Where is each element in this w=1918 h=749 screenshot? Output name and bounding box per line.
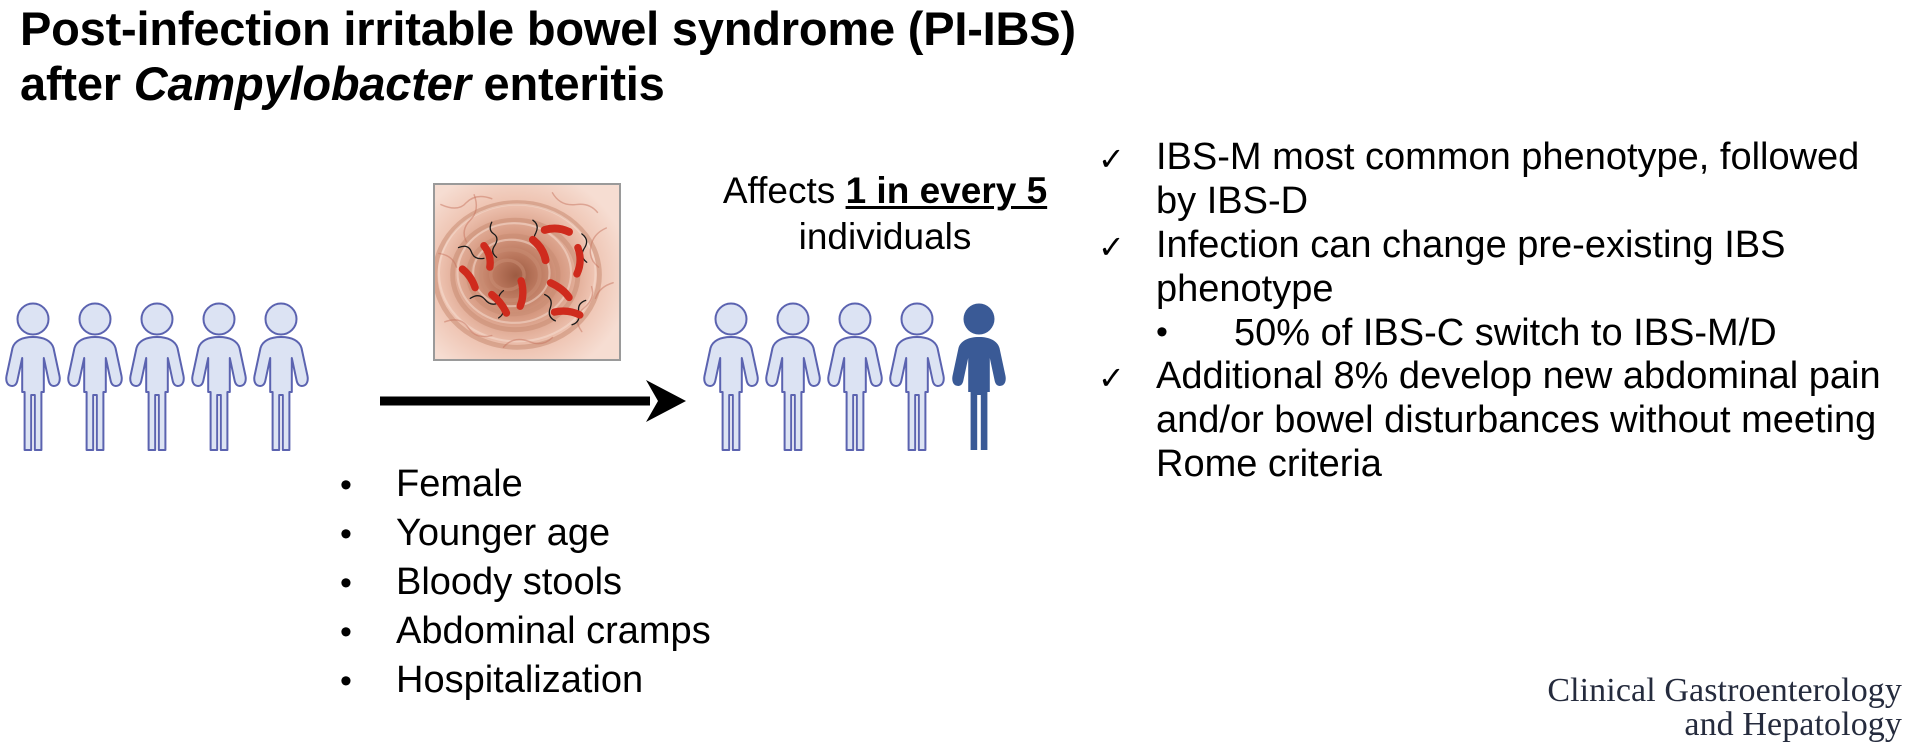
prevalence-emphasis: 1 in every 5 [846,170,1048,211]
bullet-icon: • [340,615,396,649]
five-people-group-after [700,300,1010,452]
prevalence-suffix: individuals [799,216,972,257]
list-item: ✓ IBS-M most common phenotype, followed … [1098,136,1898,224]
sub-finding-label: 50% of IBS-C switch to IBS-M/D [1234,312,1777,356]
person-icon-affected [948,300,1010,452]
title-line-2-prefix: after [20,57,134,110]
risk-factor-label: Abdominal cramps [396,609,711,653]
journal-logo: Clinical Gastroenterology and Hepatology [1547,674,1902,743]
journal-name-line-2: and Hepatology [1547,708,1902,743]
list-item: • Abdominal cramps [340,609,711,653]
person-icon [188,300,250,452]
bullet-icon: • [1156,312,1234,352]
check-icon: ✓ [1098,355,1156,400]
bullet-icon: • [340,664,396,698]
risk-factor-label: Hospitalization [396,658,643,702]
five-people-group-before [2,300,312,452]
risk-factor-label: Female [396,462,523,506]
person-icon [700,300,762,452]
check-icon: ✓ [1098,136,1156,181]
sub-list-item: • 50% of IBS-C switch to IBS-M/D [1156,312,1898,356]
title-line-2-suffix: enteritis [471,57,665,110]
person-icon [2,300,64,452]
person-icon [64,300,126,452]
prevalence-callout: Affects 1 in every 5 individuals [700,168,1070,261]
risk-factor-label: Bloody stools [396,560,622,604]
page-title: Post-infection irritable bowel syndrome … [20,2,1420,112]
title-organism-name: Campylobacter [134,57,471,110]
list-item: • Female [340,462,711,506]
finding-label: IBS-M most common phenotype, followed by… [1156,136,1898,224]
title-line-1: Post-infection irritable bowel syndrome … [20,2,1076,55]
person-icon [250,300,312,452]
graphical-abstract-slide: Post-infection irritable bowel syndrome … [0,0,1918,749]
finding-label: Infection can change pre-existing IBS ph… [1156,224,1898,312]
list-item: ✓ Infection can change pre-existing IBS … [1098,224,1898,312]
risk-factor-label: Younger age [396,511,610,555]
list-item: • Hospitalization [340,658,711,702]
person-icon [126,300,188,452]
list-item: • Bloody stools [340,560,711,604]
bullet-icon: • [340,468,396,502]
person-icon [824,300,886,452]
list-item: ✓ Additional 8% develop new abdominal pa… [1098,355,1898,487]
finding-label: Additional 8% develop new abdominal pain… [1156,355,1898,487]
check-icon: ✓ [1098,224,1156,269]
campylobacter-enteritis-endoscopy-illustration [433,183,621,361]
progression-arrow [378,372,688,430]
list-item: • Younger age [340,511,711,555]
bullet-icon: • [340,517,396,551]
person-icon [886,300,948,452]
findings-list: ✓ IBS-M most common phenotype, followed … [1098,136,1898,487]
risk-factor-list: • Female • Younger age • Bloody stools •… [340,462,711,707]
person-icon [762,300,824,452]
journal-name-line-1: Clinical Gastroenterology [1547,674,1902,709]
prevalence-prefix: Affects [723,170,846,211]
bullet-icon: • [340,566,396,600]
